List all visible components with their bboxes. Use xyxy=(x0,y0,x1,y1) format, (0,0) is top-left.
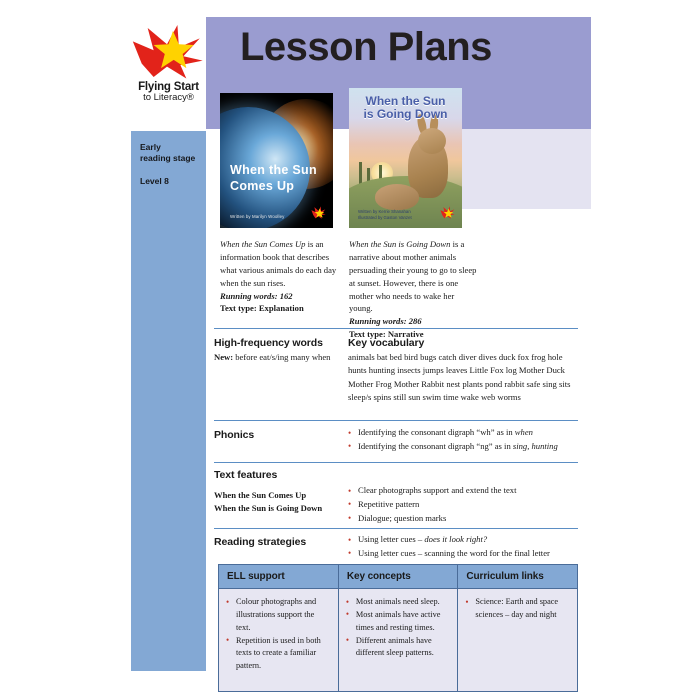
sidebar-stage-line1: Early xyxy=(140,142,204,153)
support-table: ELL support Key concepts Curriculum link… xyxy=(218,564,578,692)
cover-credit-author: Written by Kerrie Shanahan xyxy=(358,209,412,215)
reading-strategies-heading: Reading strategies xyxy=(214,536,342,548)
blurb-book-title: When the Sun is Going Down xyxy=(349,239,450,249)
cover-title-line1: When the Sun xyxy=(349,95,462,108)
publisher-badge-icon xyxy=(311,206,326,221)
list-item: Most animals have active times and resti… xyxy=(346,609,451,635)
table-header-curriculum-links: Curriculum links xyxy=(458,565,578,589)
brand-logo: Flying Start to Literacy® xyxy=(131,22,206,122)
table-header-key-concepts: Key concepts xyxy=(338,565,458,589)
phonics-heading: Phonics xyxy=(214,429,342,441)
sidebar-level: Level 8 xyxy=(140,176,204,187)
table-cell-curriculum-links: Science: Earth and space sciences – day … xyxy=(458,589,578,692)
cover-title-line2: is Going Down xyxy=(349,108,462,121)
list-item: Identifying the consonant digraph “ng” a… xyxy=(348,440,578,454)
section-high-frequency-and-vocabulary: High-frequency words New: before eat/s/i… xyxy=(214,328,578,421)
page-title: Lesson Plans xyxy=(240,25,492,70)
key-vocabulary-words: animals bat bed bird bugs catch diver di… xyxy=(348,351,578,404)
list-item: Dialogue; question marks xyxy=(348,512,578,526)
sidebar-stage-line2: reading stage xyxy=(140,153,204,164)
publisher-badge-icon xyxy=(440,206,455,221)
star-swoosh-logo-icon xyxy=(131,22,206,80)
table-cell-ell-support: Colour photographs and illustrations sup… xyxy=(219,589,339,692)
phonics-label: Phonics xyxy=(214,429,342,441)
text-type: Text type: Explanation xyxy=(220,302,344,315)
brand-tagline: to Literacy® xyxy=(131,93,206,103)
key-vocabulary-heading: Key vocabulary xyxy=(348,337,578,349)
text-features-book-2: When the Sun is Going Down xyxy=(214,503,322,513)
running-words: Running words: 162 xyxy=(220,290,344,303)
sidebar-blue-panel xyxy=(131,131,206,671)
book-cover-when-the-sun-is-going-down: When the Sun is Going Down Written by Ke… xyxy=(349,88,462,228)
high-frequency-heading: High-frequency words xyxy=(214,337,342,349)
high-frequency-column: High-frequency words New: before eat/s/i… xyxy=(214,337,342,364)
book-blurb-2: When the Sun is Going Down is a narrativ… xyxy=(349,238,479,341)
section-text-features: Text features When the Sun Comes Up When… xyxy=(214,462,578,529)
table-header-ell-support: ELL support xyxy=(219,565,339,589)
table-cell-key-concepts: Most animals need sleep. Most animals ha… xyxy=(338,589,458,692)
list-item: Most animals need sleep. xyxy=(346,596,451,609)
text-features-list: Clear photographs support and extend the… xyxy=(348,484,578,525)
text-features-books: When the Sun Comes Up When the Sun is Go… xyxy=(214,489,342,516)
book-blurb-1: When the Sun Comes Up is an information … xyxy=(220,238,344,315)
key-vocabulary-column: Key vocabulary animals bat bed bird bugs… xyxy=(348,337,578,404)
cover-credit: Written by Marilyn Woolley xyxy=(230,214,284,219)
section-reading-strategies: Reading strategies Using letter cues – d… xyxy=(214,528,578,565)
high-frequency-words: New: before eat/s/ing many when xyxy=(214,351,342,364)
running-words: Running words: 286 xyxy=(349,315,479,328)
phonics-list: Identifying the consonant digraph “wh” a… xyxy=(348,426,578,454)
list-item: Using letter cues – scanning the word fo… xyxy=(348,547,578,561)
text-features-book-1: When the Sun Comes Up xyxy=(214,490,306,500)
baby-rabbit-graphic xyxy=(375,184,419,210)
section-phonics: Phonics Identifying the consonant digrap… xyxy=(214,420,578,463)
cover-title-line1: When the Sun xyxy=(230,163,317,179)
list-item: Science: Earth and space sciences – day … xyxy=(465,596,570,622)
book-cover-when-the-sun-comes-up: When the Sun Comes Up Written by Marilyn… xyxy=(220,93,333,228)
list-item: Identifying the consonant digraph “wh” a… xyxy=(348,426,578,440)
reading-strategies-label: Reading strategies xyxy=(214,536,342,548)
sidebar-reading-stage: Early reading stage xyxy=(140,142,204,165)
blurb-book-title: When the Sun Comes Up xyxy=(220,239,305,249)
list-item: Using letter cues – does it look right? xyxy=(348,533,578,547)
rabbit-head-graphic xyxy=(418,128,446,154)
table-row: Colour photographs and illustrations sup… xyxy=(219,589,578,692)
cover-credit-illustrator: Illustrated by Gaston Vanzet xyxy=(358,215,412,221)
list-item: Colour photographs and illustrations sup… xyxy=(226,596,331,635)
table-header-row: ELL support Key concepts Curriculum link… xyxy=(219,565,578,589)
reading-strategies-list: Using letter cues – does it look right? … xyxy=(348,533,578,561)
text-features-heading: Text features xyxy=(214,469,342,481)
list-item: Clear photographs support and extend the… xyxy=(348,484,578,498)
cover-credit: Written by Kerrie Shanahan Illustrated b… xyxy=(358,209,412,221)
cover-title: When the Sun is Going Down xyxy=(349,95,462,122)
blurb-body: is a narrative about mother animals pers… xyxy=(349,239,476,313)
text-features-label: Text features When the Sun Comes Up When… xyxy=(214,469,342,516)
list-item: Repetitive pattern xyxy=(348,498,578,512)
list-item: Repetition is used in both texts to crea… xyxy=(226,635,331,674)
lesson-plan-page: Flying Start to Literacy® Early reading … xyxy=(0,0,700,700)
cover-title-line2: Comes Up xyxy=(230,179,317,195)
list-item: Different animals have different sleep p… xyxy=(346,635,451,661)
cover-title: When the Sun Comes Up xyxy=(230,163,317,194)
